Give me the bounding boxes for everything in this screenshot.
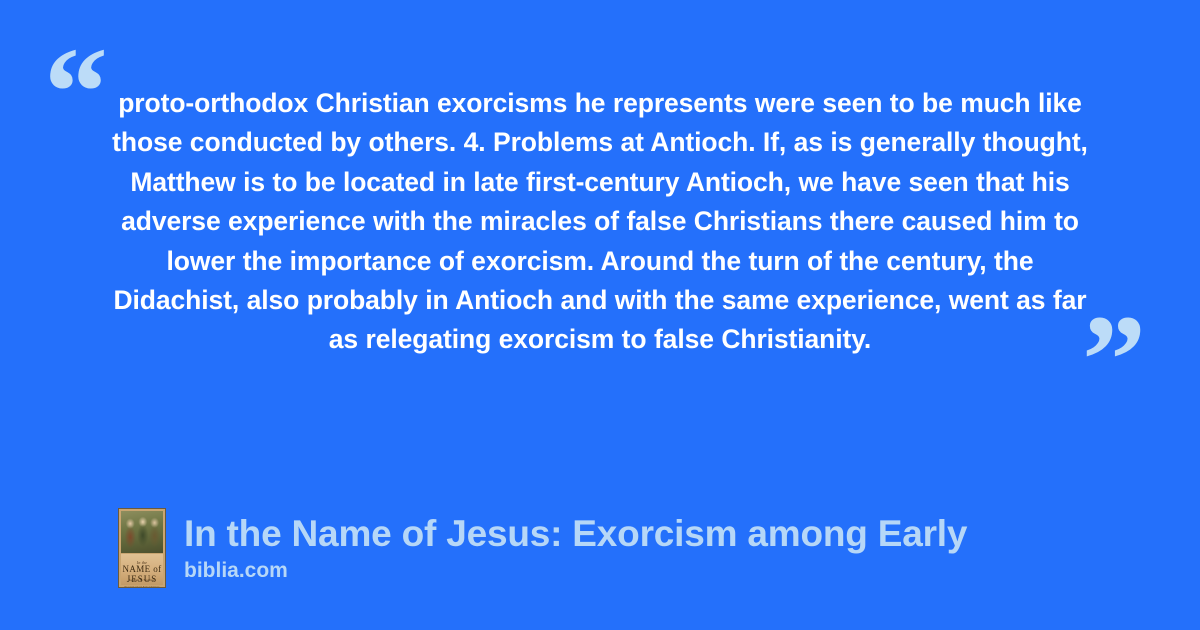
quote-area: “ proto-orthodox Christian exorcisms he … — [0, 0, 1200, 470]
closing-quote-icon: ” — [1082, 296, 1146, 424]
source-attribution[interactable]: In the NAME of JESUS Exorcism among Earl… — [118, 508, 967, 588]
book-cover-subtitle: Exorcism among Early Christians — [124, 586, 160, 588]
opening-quote-icon: “ — [44, 28, 108, 156]
book-cover-thumbnail: In the NAME of JESUS Exorcism among Earl… — [118, 508, 166, 588]
book-cover-text-panel: In the NAME of JESUS Exorcism among Earl… — [121, 554, 163, 585]
source-text-group: In the Name of Jesus: Exorcism among Ear… — [184, 512, 967, 584]
quote-text: proto-orthodox Christian exorcisms he re… — [100, 84, 1100, 360]
book-cover-artwork — [121, 511, 163, 553]
book-cover-author: Graham H. Twelftree — [124, 578, 160, 582]
book-title[interactable]: In the Name of Jesus: Exorcism among Ear… — [184, 512, 967, 556]
book-cover-title-line-2: NAME of — [121, 564, 163, 574]
quote-card: “ proto-orthodox Christian exorcisms he … — [0, 0, 1200, 630]
source-domain[interactable]: biblia.com — [184, 558, 967, 584]
